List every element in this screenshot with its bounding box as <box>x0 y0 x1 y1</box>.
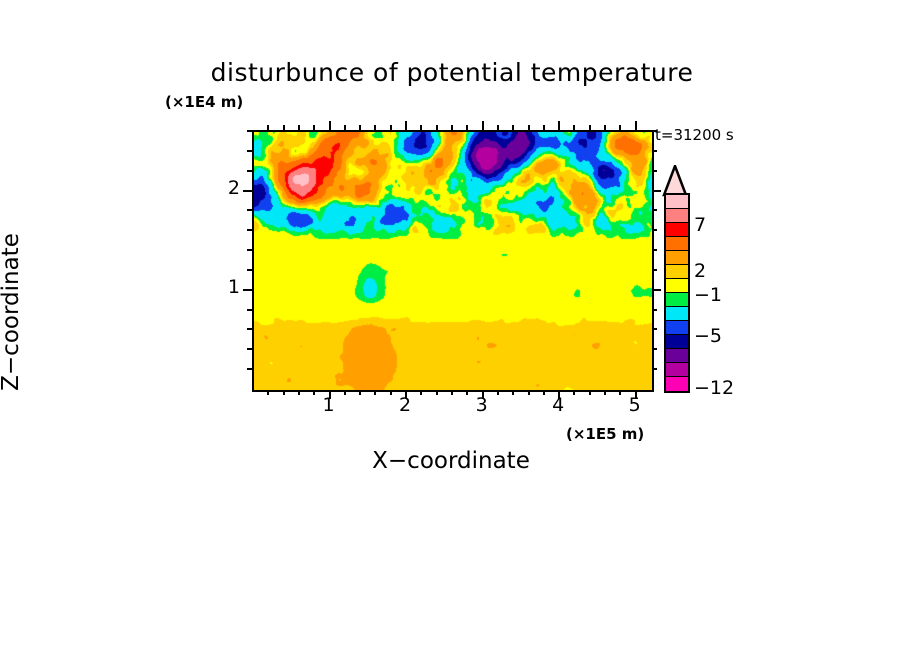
colorbar-band <box>666 195 688 209</box>
axis-tick <box>267 125 269 130</box>
axis-tick <box>390 125 392 130</box>
colorbar-tick-label: −1 <box>694 284 722 306</box>
colorbar-band <box>666 223 688 237</box>
axis-tick <box>283 390 285 395</box>
axis-tick <box>298 125 300 130</box>
axis-tick <box>652 309 657 311</box>
colorbar-band <box>666 265 688 279</box>
axis-tick <box>247 209 252 211</box>
colorbar-band <box>666 363 688 377</box>
colorbar-band <box>666 209 688 223</box>
axis-tick <box>247 229 252 231</box>
axis-tick <box>482 121 484 130</box>
axis-tick <box>451 390 453 395</box>
colorbar-band <box>666 307 688 321</box>
x-tick-label: 5 <box>620 394 650 416</box>
x-tick-label: 4 <box>543 394 573 416</box>
x-axis-title: X−coordinate <box>252 448 650 474</box>
axis-tick <box>374 125 376 130</box>
y-axis-title: Z−coordinate <box>0 182 24 442</box>
axis-tick <box>589 390 591 395</box>
axis-tick <box>604 390 606 395</box>
colorbar-band <box>666 321 688 335</box>
y-axis-unit-label: (×1E4 m) <box>165 93 243 111</box>
colorbar-band <box>666 349 688 363</box>
colorbar-tick-label: −5 <box>694 325 722 347</box>
axis-tick <box>652 150 657 152</box>
axis-tick <box>420 125 422 130</box>
axis-tick <box>405 121 407 130</box>
x-tick-label: 3 <box>467 394 497 416</box>
axis-tick <box>359 125 361 130</box>
axis-tick <box>243 190 252 192</box>
colorbar-band <box>666 293 688 307</box>
colorbar-tick-label: 7 <box>694 214 706 236</box>
axis-tick <box>604 125 606 130</box>
axis-tick <box>247 130 252 132</box>
colorbar <box>664 193 690 393</box>
colorbar-band <box>666 237 688 251</box>
page-title: disturbunce of potential temperature <box>0 58 904 87</box>
axis-tick <box>543 125 545 130</box>
axis-tick <box>652 209 657 211</box>
axis-tick <box>497 125 499 130</box>
x-tick-label: 2 <box>390 394 420 416</box>
time-stamp-label: t=31200 s <box>655 126 734 144</box>
axis-tick <box>247 269 252 271</box>
axis-tick <box>652 269 657 271</box>
axis-tick <box>247 249 252 251</box>
axis-tick <box>329 121 331 130</box>
axis-tick <box>652 348 657 350</box>
axis-tick <box>247 368 252 370</box>
axis-tick <box>528 125 530 130</box>
axis-tick <box>359 390 361 395</box>
axis-tick <box>247 328 252 330</box>
axis-tick <box>652 229 657 231</box>
axis-tick <box>652 190 661 192</box>
axis-tick <box>512 390 514 395</box>
axis-tick <box>558 121 560 130</box>
axis-tick <box>652 249 657 251</box>
temperature-field-heatmap <box>254 132 652 390</box>
axis-tick <box>573 390 575 395</box>
colorbar-band <box>666 279 688 293</box>
axis-tick <box>652 130 657 132</box>
colorbar-tick-label: −12 <box>694 377 734 399</box>
colorbar-tick-label: 2 <box>694 260 706 282</box>
axis-tick <box>313 125 315 130</box>
axis-tick <box>283 125 285 130</box>
x-axis-unit-label: (×1E5 m) <box>566 425 644 443</box>
axis-tick <box>267 390 269 395</box>
y-tick-label: 2 <box>214 177 240 199</box>
axis-tick <box>451 125 453 130</box>
axis-tick <box>298 390 300 395</box>
axis-tick <box>247 348 252 350</box>
colorbar-band <box>666 335 688 349</box>
axis-tick <box>652 328 657 330</box>
colorbar-band <box>666 251 688 265</box>
axis-tick <box>374 390 376 395</box>
axis-tick <box>436 390 438 395</box>
axis-tick <box>652 368 657 370</box>
y-tick-label: 1 <box>214 276 240 298</box>
axis-tick <box>344 390 346 395</box>
axis-tick <box>344 125 346 130</box>
axis-tick <box>243 289 252 291</box>
contour-plot-frame <box>252 130 654 392</box>
axis-tick <box>589 125 591 130</box>
axis-tick <box>247 170 252 172</box>
axis-tick <box>635 121 637 130</box>
axis-tick <box>420 390 422 395</box>
axis-tick <box>247 150 252 152</box>
x-tick-label: 1 <box>314 394 344 416</box>
axis-tick <box>247 309 252 311</box>
axis-tick <box>619 125 621 130</box>
axis-tick <box>652 170 657 172</box>
axis-tick <box>497 390 499 395</box>
axis-tick <box>528 390 530 395</box>
axis-tick <box>512 125 514 130</box>
axis-tick <box>436 125 438 130</box>
axis-tick <box>573 125 575 130</box>
axis-tick <box>652 289 661 291</box>
colorbar-band <box>666 377 688 391</box>
axis-tick <box>466 125 468 130</box>
